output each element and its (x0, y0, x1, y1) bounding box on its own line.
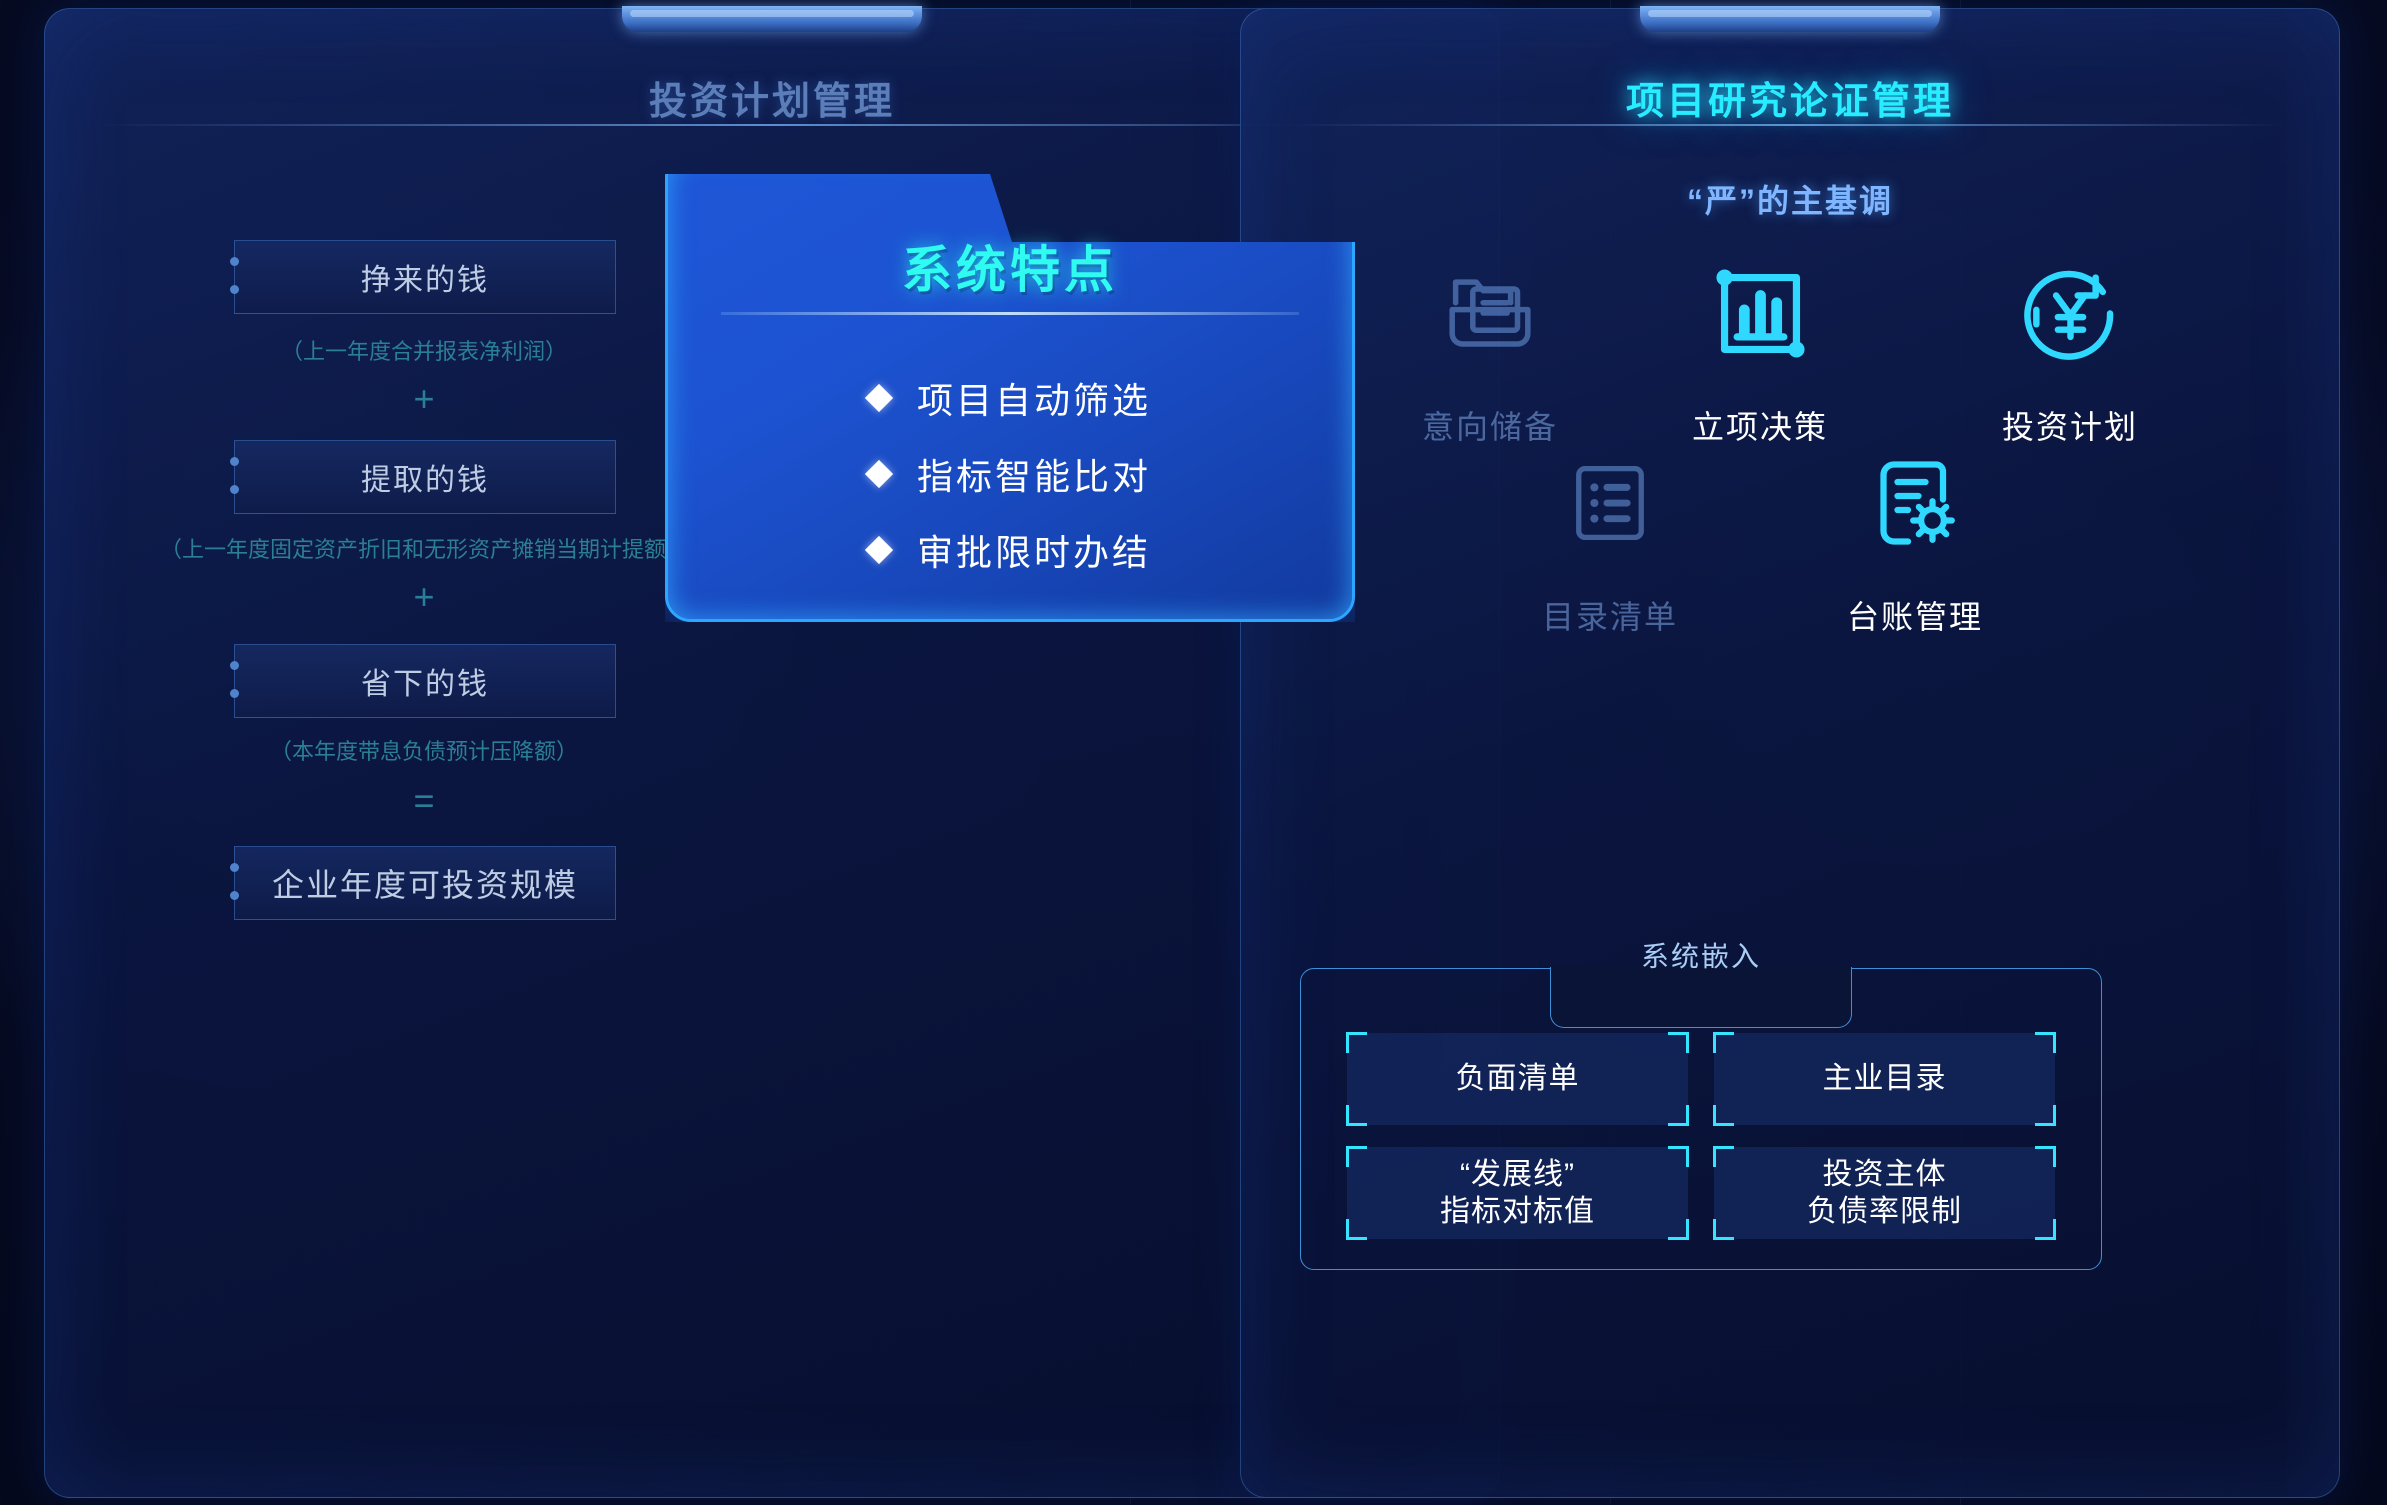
modal-feature-label: 项目自动筛选 (917, 372, 1151, 424)
connector-dot (230, 457, 239, 466)
panel-project-research: 项目研究论证管理 “严”的主基调 意向储备 (1240, 8, 2340, 1498)
icon-item-ledger-management[interactable]: 台账管理 (1785, 428, 2045, 638)
legend-frame (1550, 967, 1852, 1028)
right-panel-icon-grid: 意向储备 立项决策 (1240, 238, 2340, 638)
panel-notch (622, 6, 922, 32)
modal-feature-item[interactable]: 指标智能比对 (665, 448, 1355, 500)
icon-label: 台账管理 (1785, 592, 2045, 638)
corner-bracket-icon (2035, 1105, 2056, 1126)
modal-feature-label: 审批限时办结 (917, 524, 1151, 576)
flow-operator-equals: = (234, 780, 614, 822)
corner-bracket-icon (1668, 1146, 1689, 1167)
corner-bracket-icon (1668, 1105, 1689, 1126)
flow-note-extracted-money: （上一年度固定资产折旧和无形资产摊销当期计提额） (104, 532, 744, 564)
flow-box-label: 省下的钱 (361, 659, 489, 703)
connector-dot (230, 891, 239, 900)
embed-cell-development-line[interactable]: “发展线” 指标对标值 (1347, 1147, 1688, 1239)
corner-bracket-icon (1346, 1032, 1367, 1053)
bar-chart-icon (1630, 238, 1890, 388)
diamond-bullet-icon (865, 536, 893, 564)
corner-bracket-icon (1713, 1146, 1734, 1167)
document-gear-icon (1785, 428, 2045, 578)
list-icon (1480, 428, 1740, 578)
connector-dot (230, 689, 239, 698)
right-panel-divider (1295, 124, 2285, 126)
corner-bracket-icon (2035, 1219, 2056, 1240)
panel-surface (1240, 8, 2340, 1498)
connector-dot (230, 257, 239, 266)
embed-cell-negative-list[interactable]: 负面清单 (1347, 1033, 1688, 1125)
corner-bracket-icon (1346, 1146, 1367, 1167)
modal-title: 系统特点 (665, 230, 1355, 302)
icon-item-investment-plan[interactable]: 投资计划 (1940, 238, 2200, 448)
diamond-bullet-icon (865, 384, 893, 412)
connector-dot (230, 661, 239, 670)
panel-notch (1640, 6, 1940, 32)
modal-divider (721, 312, 1299, 315)
icon-item-intent-reserve[interactable]: 意向储备 (1360, 238, 1620, 448)
page-background: 投资计划管理 “量”的高标准 挣来的钱 （上一年度合并报表净利润） + 提取的钱… (0, 0, 2387, 1505)
icon-label: 目录清单 (1480, 592, 1740, 638)
flow-box-saved-money[interactable]: 省下的钱 (234, 644, 616, 718)
modal-feature-list: 项目自动筛选 指标智能比对 审批限时办结 (665, 372, 1355, 600)
flow-box-extracted-money[interactable]: 提取的钱 (234, 440, 616, 514)
corner-bracket-icon (1668, 1032, 1689, 1053)
yen-refresh-icon (1940, 238, 2200, 388)
corner-bracket-icon (1713, 1032, 1734, 1053)
modal-feature-item[interactable]: 审批限时办结 (665, 524, 1355, 576)
modal-feature-label: 指标智能比对 (917, 448, 1151, 500)
embed-cell-main-business-catalog[interactable]: 主业目录 (1714, 1033, 2055, 1125)
diamond-bullet-icon (865, 460, 893, 488)
flow-operator-plus-2: + (234, 576, 614, 618)
flow-box-label: 提取的钱 (361, 455, 489, 499)
folder-document-icon (1360, 238, 1620, 388)
flow-box-annual-investment-scale[interactable]: 企业年度可投资规模 (234, 846, 616, 920)
system-features-modal[interactable]: 系统特点 项目自动筛选 指标智能比对 审批限时办结 (665, 152, 1355, 622)
corner-bracket-icon (1713, 1105, 1734, 1126)
right-panel-title: 项目研究论证管理 (1240, 70, 2340, 125)
flow-note-earned-money: （上一年度合并报表净利润） (104, 334, 744, 366)
connector-dot (230, 485, 239, 494)
embed-cell-label: 投资主体 负债率限制 (1807, 1156, 1962, 1231)
corner-bracket-icon (1346, 1219, 1367, 1240)
corner-bracket-icon (2035, 1146, 2056, 1167)
corner-bracket-icon (1713, 1219, 1734, 1240)
flow-note-saved-money: （本年度带息负债预计压降额） (104, 734, 744, 766)
embed-cell-grid: 负面清单 主业目录 “发展线” 指标对标值 (1347, 1033, 2055, 1239)
right-panel-subtitle: “严”的主基调 (1240, 176, 2340, 222)
embed-cell-investor-debt-ratio[interactable]: 投资主体 负债率限制 (1714, 1147, 2055, 1239)
icon-item-project-decision[interactable]: 立项决策 (1630, 238, 1890, 448)
corner-bracket-icon (2035, 1032, 2056, 1053)
flow-box-earned-money[interactable]: 挣来的钱 (234, 240, 616, 314)
embed-cell-label: 负面清单 (1456, 1060, 1580, 1098)
flow-box-label: 企业年度可投资规模 (272, 860, 578, 906)
connector-dot (230, 285, 239, 294)
embed-cell-label: 主业目录 (1823, 1060, 1947, 1098)
modal-feature-item[interactable]: 项目自动筛选 (665, 372, 1355, 424)
flow-operator-plus-1: + (234, 378, 614, 420)
flow-box-label: 挣来的钱 (361, 255, 489, 299)
icon-item-catalog-list[interactable]: 目录清单 (1480, 428, 1740, 638)
embed-cell-label: “发展线” 指标对标值 (1440, 1156, 1595, 1231)
system-embed-section: 系统嵌入 负面清单 主业目录 (1300, 968, 2102, 1270)
corner-bracket-icon (1346, 1105, 1367, 1126)
corner-bracket-icon (1668, 1219, 1689, 1240)
connector-dot (230, 863, 239, 872)
system-embed-legend: 系统嵌入 (1619, 935, 1783, 975)
